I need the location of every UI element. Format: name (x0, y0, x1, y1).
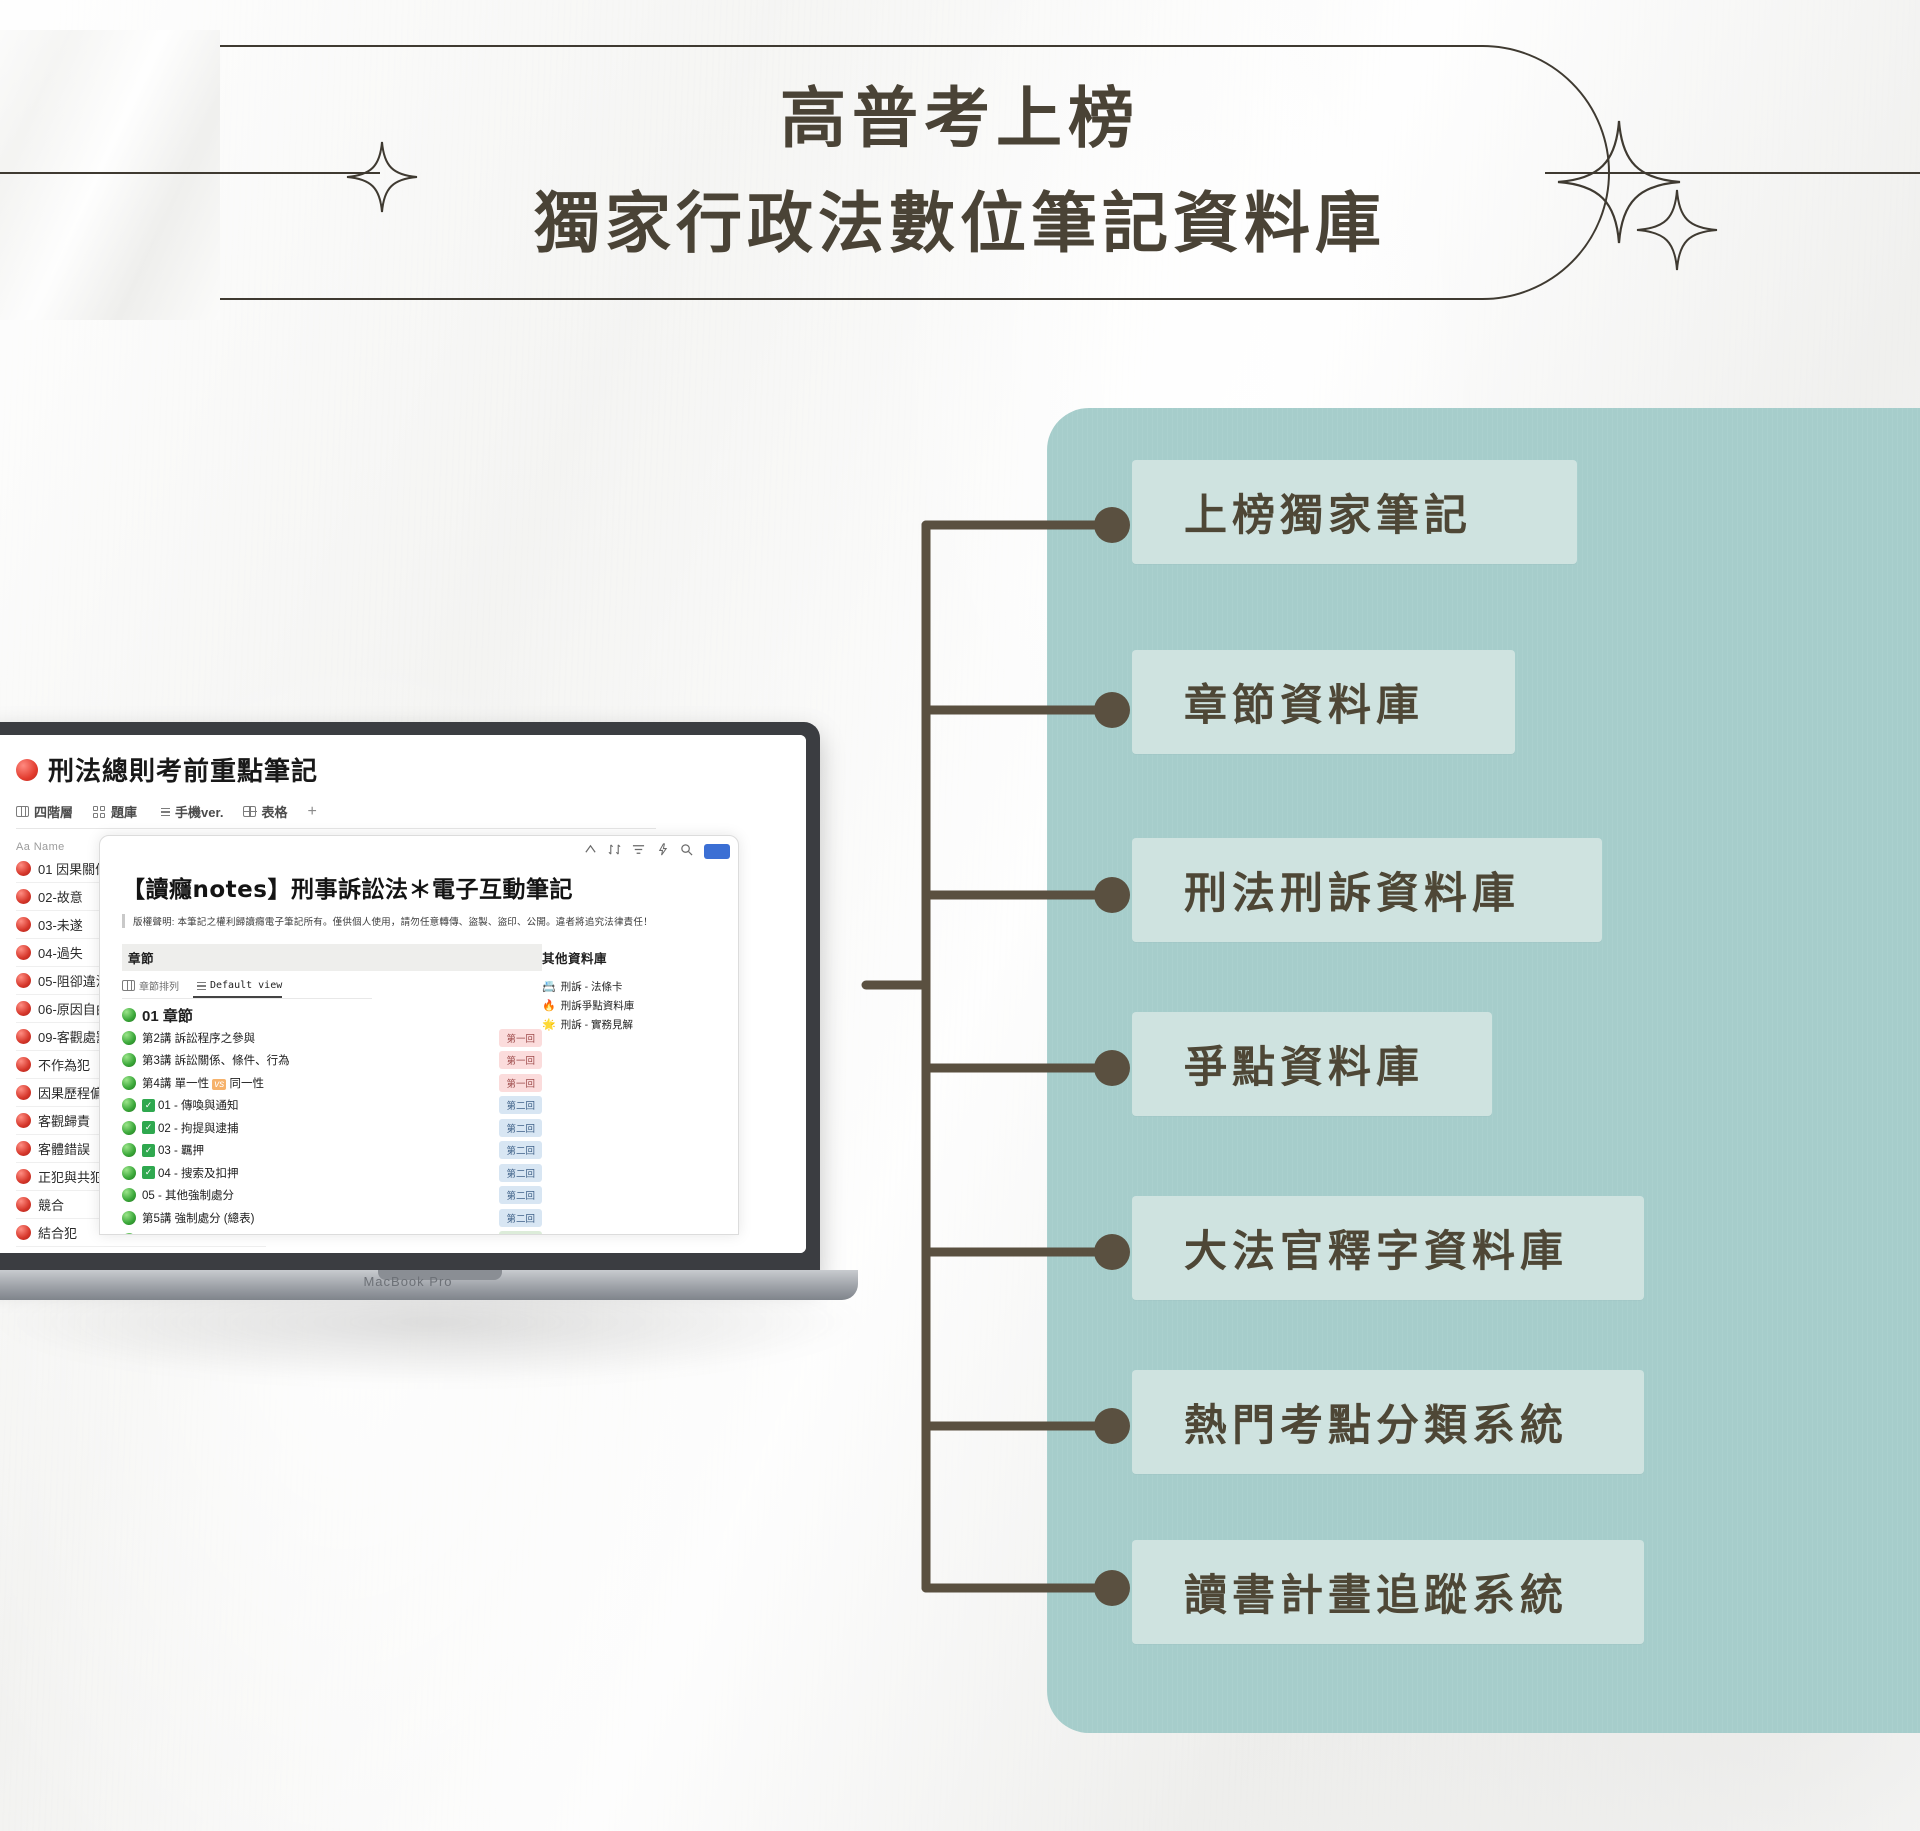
red-circle-icon (16, 917, 31, 932)
list-item-label: 05 - 其他強制處分 (142, 1187, 234, 1203)
list-item-label: 刑訴爭點資料庫 (561, 998, 635, 1013)
chapter-row-list: 01 章節第2講 訴訟程序之參與第一回第3講 訴訟關係、條件、行為第一回第4講 … (122, 1004, 542, 1235)
connector-node (1094, 1408, 1130, 1444)
list-item[interactable]: 05 - 其他強制處分第二回 (122, 1184, 542, 1207)
table-row-label: 客觀歸責 (38, 1111, 90, 1130)
list-item[interactable]: ✓04 - 搜索及扣押第二回 (122, 1162, 542, 1185)
list-item[interactable]: 01 章節 (122, 1004, 542, 1027)
table-icon (243, 806, 256, 817)
list-item[interactable]: 第3講 訴訟關係、條件、行為第一回 (122, 1049, 542, 1072)
list-item[interactable]: 第4講 單一性 vs 同一性第一回 (122, 1072, 542, 1095)
red-circle-icon (16, 1113, 31, 1128)
gallery-icon (93, 806, 106, 817)
table-row-label: 04-過失 (38, 943, 83, 962)
red-circle-icon (16, 889, 31, 904)
table-row-label: 解題版型 (38, 1251, 90, 1253)
tab-question-bank[interactable]: 題庫 (93, 802, 137, 821)
table-row-label: 01 因果關係 (38, 859, 108, 878)
laptop-bezel: 刑法總則考前重點筆記 四階層 題庫 手機ver. (0, 735, 806, 1253)
list-item[interactable]: ✓03 - 羈押第二回 (122, 1139, 542, 1162)
list-item[interactable]: 第5講 強制處分 (總表)第二回 (122, 1207, 542, 1230)
list-item-label: 刑訴 - 實務見解 (561, 1017, 633, 1032)
list-item-label: 第2講 訴訟程序之參與 (142, 1030, 255, 1046)
list-item-label: 03 - 羈押 (158, 1142, 204, 1158)
table-row-label: 結合犯 (38, 1223, 77, 1242)
connector-node (1094, 1234, 1130, 1270)
tab-label: 表格 (261, 802, 287, 821)
list-item[interactable]: 🔥刑訴爭點資料庫 (542, 996, 722, 1015)
list-item-label: 04 - 搜索及扣押 (158, 1165, 239, 1181)
green-circle-icon (122, 1233, 136, 1235)
list-item-label: 01 - 傳喚與通知 (158, 1097, 239, 1113)
connector-node (1094, 507, 1130, 543)
list-item[interactable]: ✓01 - 傳喚與通知第二回 (122, 1094, 542, 1117)
back-window-tabbar: 四階層 題庫 手機ver. 表格 (16, 802, 656, 829)
list-icon (193, 980, 206, 991)
view-label: 章節排列 (139, 978, 179, 993)
status-badge: 第二回 (499, 1209, 542, 1227)
list-item-label: 第4講 單一性 vs 同一性 (142, 1075, 264, 1091)
check-icon: ✓ (142, 1144, 155, 1157)
connector-node (1094, 692, 1130, 728)
copyright-notice: 版權聲明: 本筆記之權利歸讀癮電子筆記所有。僅供個人使用，請勿任意轉傳、盜製、盜… (122, 914, 738, 928)
status-badge: 第一回 (499, 1051, 542, 1069)
red-circle-icon (16, 1001, 31, 1016)
search-icon[interactable] (680, 843, 693, 859)
columns-icon (16, 806, 29, 817)
green-circle-icon (122, 1076, 136, 1090)
list-item[interactable]: 📇刑訴 - 法條卡 (542, 977, 722, 996)
laptop-mockup: 刑法總則考前重點筆記 四階層 題庫 手機ver. (0, 722, 900, 1322)
list-item-label: 刑訴 - 法條卡 (561, 979, 623, 994)
tab-label: 手機ver. (175, 802, 223, 821)
status-badge: 第二回 (499, 1119, 542, 1137)
front-window-toolbar (584, 843, 730, 859)
columns-icon (122, 980, 135, 991)
table-row-label: 02-故意 (38, 887, 83, 906)
green-circle-icon (122, 1008, 136, 1022)
list-item-label: 第5講 強制處分 (總表) (142, 1210, 254, 1226)
view-chapter-order[interactable]: 章節排列 (122, 978, 179, 993)
back-page-title-text: 刑法總則考前重點筆記 (48, 751, 318, 788)
green-circle-icon (122, 1211, 136, 1225)
list-item-label: 01 章節 (142, 1005, 193, 1026)
list-item-label: 第3講 訴訟關係、條件、行為 (142, 1052, 290, 1068)
fire-icon: 🔥 (542, 999, 556, 1012)
red-circle-icon (16, 1197, 31, 1212)
view-default[interactable]: Default view (193, 980, 282, 998)
view-switcher: 章節排列 Default view (122, 978, 372, 999)
tab-table[interactable]: 表格 (243, 802, 287, 821)
table-row-label: 03-未遂 (38, 915, 83, 934)
status-badge: 第二回 (499, 1096, 542, 1114)
status-badge: 第一回 (499, 1029, 542, 1047)
back-page-title: 刑法總則考前重點筆記 (16, 751, 806, 788)
status-badge: 第二回 (499, 1141, 542, 1159)
tab-label: 四階層 (34, 802, 73, 821)
notes-front-window: 【讀癮notes】刑事訴訟法＊電子互動筆記 版權聲明: 本筆記之權利歸讀癮電子筆… (99, 835, 739, 1235)
tab-four-level[interactable]: 四階層 (16, 802, 73, 821)
red-circle-icon (16, 973, 31, 988)
red-circle-icon (16, 1169, 31, 1184)
other-database-title: 其他資料庫 (542, 944, 722, 971)
list-item[interactable]: ✓02 - 拘提與逮捕第二回 (122, 1117, 542, 1140)
laptop-lid: 刑法總則考前重點筆記 四階層 題庫 手機ver. (0, 722, 820, 1277)
list-item-label: 02 - 拘提與逮捕 (158, 1120, 239, 1136)
table-row-label: 競合 (38, 1195, 64, 1214)
front-window-title: 【讀癮notes】刑事訴訟法＊電子互動筆記 (122, 870, 738, 904)
red-circle-icon (16, 945, 31, 960)
check-icon: ✓ (142, 1121, 155, 1134)
table-row-label: 客體錯誤 (38, 1139, 90, 1158)
front-window-columns: 章節 章節排列 Default view (100, 944, 738, 1235)
tab-mobile-ver[interactable]: 手機ver. (157, 802, 223, 821)
check-icon: ✓ (142, 1166, 155, 1179)
list-item[interactable]: 第7講 證據法則第三回 (122, 1229, 542, 1235)
chapter-column-title: 章節 (122, 944, 542, 971)
red-circle-icon (16, 1225, 31, 1240)
status-badge: 第二回 (499, 1164, 542, 1182)
table-row-label: 正犯與共犯 (38, 1167, 103, 1186)
green-circle-icon (122, 1098, 136, 1112)
card-icon: 📇 (542, 980, 556, 993)
list-item-label: 第7講 證據法則 (142, 1232, 221, 1235)
tab-label: 題庫 (111, 802, 137, 821)
green-circle-icon (122, 1053, 136, 1067)
list-item[interactable]: 🌟刑訴 - 實務見解 (542, 1015, 722, 1034)
new-button[interactable] (704, 844, 730, 859)
sun-icon: 🌟 (542, 1018, 556, 1031)
green-circle-icon (122, 1031, 136, 1045)
red-circle-icon (16, 759, 38, 781)
laptop-model-label: MacBook Pro (0, 1274, 836, 1289)
connector-node (1094, 1570, 1130, 1606)
green-circle-icon (122, 1166, 136, 1180)
red-circle-icon (16, 1085, 31, 1100)
other-database-list: 📇刑訴 - 法條卡🔥刑訴爭點資料庫🌟刑訴 - 實務見解 (542, 977, 722, 1034)
status-badge: 第二回 (499, 1186, 542, 1204)
status-badge: 第一回 (499, 1074, 542, 1092)
share-icon[interactable] (584, 843, 597, 859)
red-circle-icon (16, 1057, 31, 1072)
green-circle-icon (122, 1121, 136, 1135)
filter-icon[interactable] (632, 843, 645, 859)
sort-icon[interactable] (608, 843, 621, 859)
other-database-column: 其他資料庫 📇刑訴 - 法條卡🔥刑訴爭點資料庫🌟刑訴 - 實務見解 (542, 944, 722, 1235)
red-circle-icon (16, 1141, 31, 1156)
green-circle-icon (122, 1188, 136, 1202)
status-badge: 第三回 (499, 1231, 542, 1235)
green-circle-icon (122, 1143, 136, 1157)
highlight-badge: vs (212, 1079, 226, 1090)
red-circle-icon (16, 861, 31, 876)
table-row[interactable]: 解題版型 (16, 1247, 266, 1253)
plus-icon[interactable]: + (307, 803, 316, 821)
list-item[interactable]: 第2講 訴訟程序之參與第一回 (122, 1027, 542, 1050)
chapter-column: 章節 章節排列 Default view (122, 944, 542, 1235)
connector-node (1094, 877, 1130, 913)
connector-node (1094, 1050, 1130, 1086)
lightning-icon[interactable] (656, 843, 669, 859)
view-label: Default view (210, 980, 282, 991)
table-row-label: 不作為犯 (38, 1055, 90, 1074)
red-circle-icon (16, 1029, 31, 1044)
check-icon: ✓ (142, 1099, 155, 1112)
list-icon (157, 806, 170, 817)
laptop-screen: 刑法總則考前重點筆記 四階層 題庫 手機ver. (0, 735, 806, 1253)
